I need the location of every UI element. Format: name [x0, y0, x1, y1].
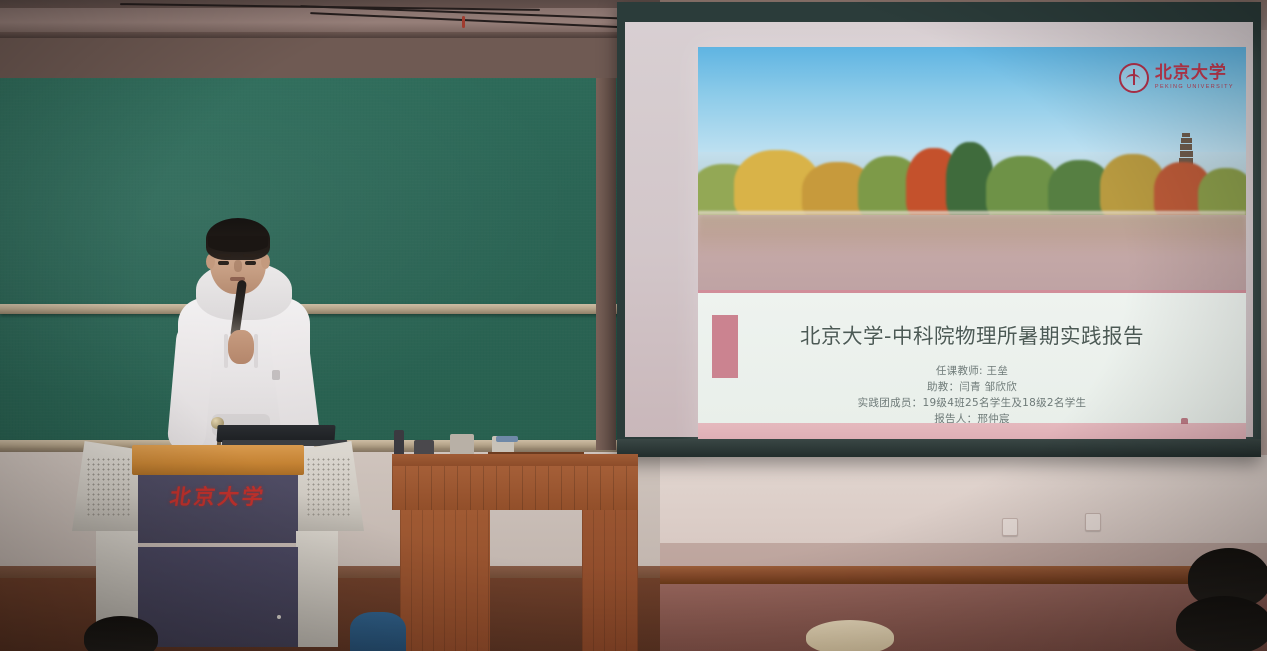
desk-item-chalk-box [450, 434, 474, 456]
power-outlet [1002, 518, 1018, 536]
presenter-eye [245, 261, 256, 265]
podium-speaker-grill [86, 457, 130, 517]
wooden-chair-rail [655, 566, 1267, 584]
podium-wooden-top [132, 445, 304, 475]
blackboard-texture [0, 78, 648, 448]
presenter-brow [217, 254, 231, 257]
pku-logo: 北京大学 PEKING UNIVERSITY [1119, 63, 1234, 93]
slide-text-area: 北京大学-中科院物理所暑期实践报告 任课教师: 王垒 助教：闫青 邹欣欣 实践团… [698, 293, 1246, 423]
audience-member-head [1176, 596, 1267, 651]
desk-apron [392, 466, 638, 510]
screen-bottom-bar [617, 439, 1261, 457]
podium-knob [277, 615, 281, 619]
hoodie-logo [272, 370, 280, 380]
pku-seal-icon [1119, 63, 1149, 93]
water-reflection [698, 215, 1246, 255]
blackboard-right-post [596, 78, 616, 450]
weiming-lake-water [698, 215, 1246, 290]
audience-member-shoulder [350, 612, 406, 651]
chalk-rail-upper [0, 304, 640, 314]
lecture-hall-photo: 北京大学 PEKING UNIVERSITY 北京大学-中科院物理所暑期实践报告… [0, 0, 1267, 651]
pku-logo-text: 北京大学 PEKING UNIVERSITY [1155, 65, 1234, 91]
slide-subtitle-line: 任课教师: 王垒 [698, 363, 1246, 379]
slide-subtitle-line: 实践团成员：19级4班25名学生及18级2名学生 [698, 395, 1246, 411]
slide-subtitle-line: 助教：闫青 邹欣欣 [698, 379, 1246, 395]
blackboard-frame [0, 38, 655, 456]
slide-subtitle-block: 任课教师: 王垒 助教：闫青 邹欣欣 实践团成员：19级4班25名学生及18级2… [698, 363, 1246, 427]
pku-logo-en: PEKING UNIVERSITY [1155, 85, 1234, 91]
hoodie-drawstring [254, 334, 258, 368]
desk-right-panel [582, 510, 638, 651]
audience-member-cap [806, 620, 894, 651]
projected-slide: 北京大学 PEKING UNIVERSITY 北京大学-中科院物理所暑期实践报告… [698, 47, 1246, 449]
right-floor [655, 584, 1267, 651]
projection-screen-assembly: 北京大学 PEKING UNIVERSITY 北京大学-中科院物理所暑期实践报告… [617, 0, 1267, 470]
wooden-teaching-desk [392, 438, 660, 651]
podium-lower-panel [138, 547, 298, 647]
presenter-brow [243, 254, 257, 257]
presenter-hand [228, 330, 254, 364]
presenter-fringe [208, 236, 268, 252]
slide-footer-mark [1181, 418, 1188, 424]
slide-title: 北京大学-中科院物理所暑期实践报告 [698, 319, 1246, 349]
pku-logo-cn: 北京大学 [1155, 65, 1234, 82]
podium-right-wing [294, 441, 364, 531]
screen-frame: 北京大学 PEKING UNIVERSITY 北京大学-中科院物理所暑期实践报告… [617, 2, 1261, 457]
desk-item-bottle-cap [496, 436, 518, 442]
presenter-eye [218, 261, 229, 265]
podium-right-column [296, 531, 338, 647]
presenter-nose [234, 260, 242, 272]
podium-speaker-grill [306, 457, 350, 517]
red-cable-tie [462, 16, 465, 28]
autumn-tree-line [698, 142, 1246, 222]
blackboard-surface [0, 78, 648, 448]
podium-nameplate: 北京大学 [136, 481, 300, 511]
slide-photo-banner: 北京大学 PEKING UNIVERSITY [698, 47, 1246, 290]
screen-surface: 北京大学 PEKING UNIVERSITY 北京大学-中科院物理所暑期实践报告… [625, 22, 1253, 437]
desk-left-panel [400, 510, 490, 651]
desk-item-marker [394, 430, 404, 456]
power-outlet [1085, 513, 1101, 531]
